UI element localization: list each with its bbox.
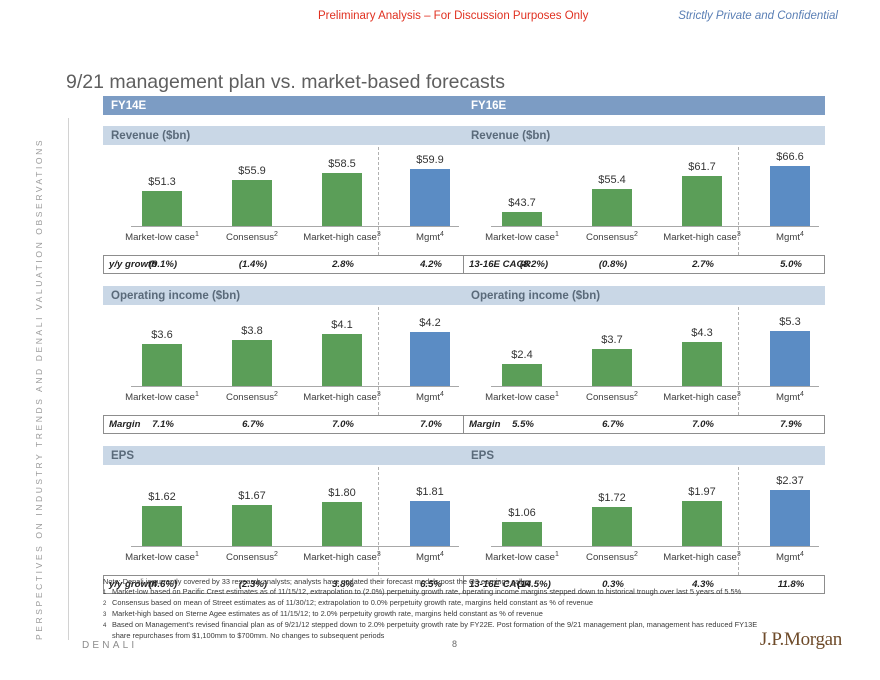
x-label: Market-low case1 xyxy=(474,389,570,404)
bar-group-mgmt: $4.2 xyxy=(385,317,475,386)
plot-area: $2.4 $3.7 $4.3 $5.3 xyxy=(463,309,825,387)
x-label-text: Market-low case xyxy=(485,392,555,403)
stats-cell: (0.8%) xyxy=(565,256,661,273)
footnote-marker: 1 xyxy=(555,391,559,398)
x-label: Consensus2 xyxy=(204,229,300,244)
bar-group: $1.80 xyxy=(297,487,387,546)
stats-row: Margin 5.5% 6.7% 7.0% 7.9% xyxy=(463,415,825,434)
bar-group: $3.7 xyxy=(567,334,657,386)
bar-value: $1.06 xyxy=(477,507,567,519)
bar-value: $2.4 xyxy=(477,349,567,361)
x-label: Market-high case3 xyxy=(294,229,390,244)
bar-group: $58.5 xyxy=(297,158,387,226)
stats-row: Margin 7.1% 6.7% 7.0% 7.0% xyxy=(103,415,465,434)
chart-fy16e-revenue: $43.7 $55.4 $61.7 $66.6 xyxy=(463,149,825,251)
bar-mgmt xyxy=(410,169,450,226)
section-title: Revenue ($bn) xyxy=(463,126,825,145)
x-axis-labels: Market-low case1 Consensus2 Market-high … xyxy=(103,549,465,573)
section-title: EPS xyxy=(463,446,825,465)
x-label: Market-high case3 xyxy=(654,389,750,404)
x-label-text: Mgmt xyxy=(416,392,440,403)
x-label-text: Market-high case xyxy=(303,232,377,243)
section-fy14e-revenue: Revenue ($bn) $51.3 $55.9 $58.5 xyxy=(103,126,465,277)
axis-line xyxy=(491,386,819,387)
column-header-fy14e: FY14E xyxy=(103,96,465,115)
section-fy14e-operating-income: Operating income ($bn) $3.6 $3.8 $4.1 xyxy=(103,286,465,437)
chart-fy16e-operating-income: $2.4 $3.7 $4.3 $5.3 xyxy=(463,309,825,411)
stats-cell: 7.1% xyxy=(115,416,211,433)
bar xyxy=(142,506,182,546)
bar-mgmt xyxy=(410,332,450,386)
axis-line xyxy=(491,546,819,547)
page-number: 8 xyxy=(452,639,457,649)
footnote-marker: 4 xyxy=(800,231,804,238)
chart-fy14e-eps: $1.62 $1.67 $1.80 $1.81 xyxy=(103,469,465,571)
bar-group: $4.1 xyxy=(297,319,387,386)
bar-group: $61.7 xyxy=(657,161,747,226)
footnote-item-1: 1Market-low based on Pacific Crest estim… xyxy=(103,587,833,598)
bar-group-mgmt: $2.37 xyxy=(745,475,835,546)
chart-fy14e-operating-income: $3.6 $3.8 $4.1 $4.2 xyxy=(103,309,465,411)
footnote-marker: 3 xyxy=(737,551,741,558)
bar xyxy=(502,212,542,226)
column-fy14e: FY14E Revenue ($bn) $51.3 $55.9 xyxy=(103,96,465,606)
x-label: Consensus2 xyxy=(564,389,660,404)
footnote-text: Market-low based on Pacific Crest estima… xyxy=(112,587,741,596)
bar xyxy=(502,522,542,546)
x-label: Market-low case1 xyxy=(114,229,210,244)
side-rail-label: PERSPECTIVES ON INDUSTRY TRENDS AND DENA… xyxy=(34,138,44,640)
x-label-text: Market-high case xyxy=(663,232,737,243)
footnote-marker: 1 xyxy=(555,231,559,238)
footnote-marker: 2 xyxy=(103,599,112,609)
footnote-text: Based on Management's revised financial … xyxy=(112,620,757,629)
x-axis-labels: Market-low case1 Consensus2 Market-high … xyxy=(463,389,825,413)
stats-cell: 6.7% xyxy=(205,416,301,433)
plot-area: $43.7 $55.4 $61.7 $66.6 xyxy=(463,149,825,227)
column-header-fy16e: FY16E xyxy=(463,96,825,115)
bar-value: $2.37 xyxy=(745,475,835,487)
x-label-text: Mgmt xyxy=(416,232,440,243)
bar-group: $1.06 xyxy=(477,507,567,546)
bar-value: $1.97 xyxy=(657,486,747,498)
section-fy14e-eps: EPS $1.62 $1.67 $1.80 xyxy=(103,446,465,597)
bar-value: $59.9 xyxy=(385,154,475,166)
bar-group-mgmt: $59.9 xyxy=(385,154,475,226)
column-fy16e: FY16E Revenue ($bn) $43.7 $55.4 xyxy=(463,96,825,606)
bar xyxy=(502,364,542,386)
bar-group: $3.6 xyxy=(117,329,207,386)
bar xyxy=(682,176,722,226)
bar-value: $1.72 xyxy=(567,492,657,504)
section-title: Operating income ($bn) xyxy=(463,286,825,305)
stats-cell: 7.9% xyxy=(743,416,839,433)
bar xyxy=(142,191,182,226)
bar xyxy=(682,501,722,546)
x-label-text: Market-high case xyxy=(303,552,377,563)
axis-line xyxy=(131,226,459,227)
bar xyxy=(322,173,362,226)
x-label: Consensus2 xyxy=(564,229,660,244)
bar xyxy=(232,180,272,226)
chart-fy14e-revenue: $51.3 $55.9 $58.5 $59.9 xyxy=(103,149,465,251)
bar xyxy=(142,344,182,386)
bar-group: $2.4 xyxy=(477,349,567,386)
bar xyxy=(592,507,632,546)
stats-cell: 5.0% xyxy=(743,256,839,273)
bar-group-mgmt: $1.81 xyxy=(385,486,475,546)
bar-group: $4.3 xyxy=(657,327,747,386)
plot-area: $51.3 $55.9 $58.5 $59.9 xyxy=(103,149,465,227)
x-label-text: Market-low case xyxy=(125,392,195,403)
bar xyxy=(232,340,272,386)
bar-mgmt xyxy=(770,166,810,226)
footnote-marker: 3 xyxy=(737,231,741,238)
x-label: Consensus2 xyxy=(204,389,300,404)
side-rail-divider xyxy=(68,118,69,640)
x-label: Market-low case1 xyxy=(114,549,210,564)
x-label-text: Consensus xyxy=(226,552,274,563)
x-label: Market-high case3 xyxy=(654,549,750,564)
stats-cell: (9.1%) xyxy=(115,256,211,273)
x-label-text: Market-low case xyxy=(485,552,555,563)
stats-cell: 7.0% xyxy=(655,416,751,433)
x-label-text: Consensus xyxy=(586,392,634,403)
plot-area: $1.62 $1.67 $1.80 $1.81 xyxy=(103,469,465,547)
footnote-item-2: 2Consensus based on mean of Street estim… xyxy=(103,598,833,609)
page-title: 9/21 management plan vs. market-based fo… xyxy=(66,71,505,94)
bar-group: $1.97 xyxy=(657,486,747,546)
footnote-item-4: 4Based on Management's revised financial… xyxy=(103,620,833,631)
x-label-text: Market-high case xyxy=(663,392,737,403)
bar-group: $1.72 xyxy=(567,492,657,546)
bar-group-mgmt: $5.3 xyxy=(745,316,835,386)
x-label-text: Consensus xyxy=(586,552,634,563)
bar-value: $5.3 xyxy=(745,316,835,328)
footnote-marker: 2 xyxy=(634,551,638,558)
x-label: Market-low case1 xyxy=(474,549,570,564)
x-label-text: Mgmt xyxy=(776,232,800,243)
footnote-marker: 2 xyxy=(634,391,638,398)
footnote-item-4-continuation: share repurchases from $1,100mm to $700m… xyxy=(103,631,833,641)
footnote-marker: 3 xyxy=(377,391,381,398)
x-axis-labels: Market-low case1 Consensus2 Market-high … xyxy=(103,389,465,413)
footnotes-block: Note: Denali is currently covered by 33 … xyxy=(103,577,833,641)
bar-value: $3.6 xyxy=(117,329,207,341)
bar-value: $1.81 xyxy=(385,486,475,498)
footnote-marker: 4 xyxy=(800,391,804,398)
footnote-marker: 2 xyxy=(274,551,278,558)
bar-mgmt xyxy=(770,331,810,386)
bar-group: $1.67 xyxy=(207,490,297,546)
footnote-text: Consensus based on mean of Street estima… xyxy=(112,598,593,607)
bar-value: $1.62 xyxy=(117,491,207,503)
stats-cell: 2.7% xyxy=(655,256,751,273)
stats-cell: 5.5% xyxy=(475,416,571,433)
bar-value: $4.1 xyxy=(297,319,387,331)
bar-value: $4.2 xyxy=(385,317,475,329)
footnote-item-3: 3Market-high based on Sterne Agee estima… xyxy=(103,609,833,620)
bar-value: $3.7 xyxy=(567,334,657,346)
bar xyxy=(682,342,722,386)
bar-group-mgmt: $66.6 xyxy=(745,151,835,226)
x-label: Mgmt4 xyxy=(742,549,838,564)
jpmorgan-logo: J.P.Morgan xyxy=(760,629,842,651)
x-label-text: Market-high case xyxy=(303,392,377,403)
section-title: Operating income ($bn) xyxy=(103,286,465,305)
bar xyxy=(322,502,362,546)
footnote-marker: 3 xyxy=(377,231,381,238)
stats-row: 13-16E CAGR (8.2%) (0.8%) 2.7% 5.0% xyxy=(463,255,825,274)
footnote-marker: 4 xyxy=(800,551,804,558)
x-label: Market-low case1 xyxy=(474,229,570,244)
chart-fy16e-eps: $1.06 $1.72 $1.97 $2.37 xyxy=(463,469,825,571)
footnote-text: Market-high based on Sterne Agee estimat… xyxy=(112,609,543,618)
stats-row: y/y growth (9.1%) (1.4%) 2.8% 4.2% xyxy=(103,255,465,274)
x-label: Market-high case3 xyxy=(654,229,750,244)
confidentiality-notice: Strictly Private and Confidential xyxy=(678,10,838,22)
bar-value: $58.5 xyxy=(297,158,387,170)
bar xyxy=(322,334,362,386)
x-label: Market-low case1 xyxy=(114,389,210,404)
x-label-text: Mgmt xyxy=(776,392,800,403)
footnote-marker: 1 xyxy=(195,231,199,238)
bar-value: $3.8 xyxy=(207,325,297,337)
plot-area: $3.6 $3.8 $4.1 $4.2 xyxy=(103,309,465,387)
x-label-text: Market-low case xyxy=(125,232,195,243)
section-fy16e-operating-income: Operating income ($bn) $2.4 $3.7 $4.3 xyxy=(463,286,825,437)
bar-value: $55.4 xyxy=(567,174,657,186)
side-rail: PERSPECTIVES ON INDUSTRY TRENDS AND DENA… xyxy=(44,180,60,640)
section-title: Revenue ($bn) xyxy=(103,126,465,145)
bar-value: $43.7 xyxy=(477,197,567,209)
x-axis-labels: Market-low case1 Consensus2 Market-high … xyxy=(103,229,465,253)
footnote-marker: 2 xyxy=(634,231,638,238)
bar-group: $51.3 xyxy=(117,176,207,226)
x-label: Mgmt4 xyxy=(742,389,838,404)
top-banner: Preliminary Analysis – For Discussion Pu… xyxy=(0,10,880,30)
x-axis-labels: Market-low case1 Consensus2 Market-high … xyxy=(463,549,825,573)
footnote-marker: 1 xyxy=(195,551,199,558)
bar-value: $61.7 xyxy=(657,161,747,173)
footnote-marker: 1 xyxy=(555,551,559,558)
bar-group: $55.4 xyxy=(567,174,657,226)
bar-value: $51.3 xyxy=(117,176,207,188)
x-label: Consensus2 xyxy=(564,549,660,564)
section-fy16e-eps: EPS $1.06 $1.72 $1.97 xyxy=(463,446,825,597)
preliminary-analysis-notice: Preliminary Analysis – For Discussion Pu… xyxy=(318,10,588,22)
stats-cell: 2.8% xyxy=(295,256,391,273)
x-axis-labels: Market-low case1 Consensus2 Market-high … xyxy=(463,229,825,253)
x-label-text: Mgmt xyxy=(416,552,440,563)
footnote-marker: 4 xyxy=(103,621,112,631)
axis-line xyxy=(491,226,819,227)
bar-mgmt xyxy=(410,501,450,546)
x-label-text: Mgmt xyxy=(776,552,800,563)
bar-value: $66.6 xyxy=(745,151,835,163)
bar-group: $55.9 xyxy=(207,165,297,226)
footnote-note: Note: Denali is currently covered by 33 … xyxy=(103,577,833,587)
x-label-text: Market-low case xyxy=(125,552,195,563)
stats-cell: 6.7% xyxy=(565,416,661,433)
footnote-marker: 2 xyxy=(274,231,278,238)
bar-value: $1.80 xyxy=(297,487,387,499)
axis-line xyxy=(131,386,459,387)
plot-area: $1.06 $1.72 $1.97 $2.37 xyxy=(463,469,825,547)
footnote-marker: 4 xyxy=(440,551,444,558)
bar-group: $1.62 xyxy=(117,491,207,546)
bar xyxy=(592,189,632,226)
stats-cell: (1.4%) xyxy=(205,256,301,273)
x-label: Mgmt4 xyxy=(742,229,838,244)
x-label-text: Market-high case xyxy=(663,552,737,563)
x-label-text: Consensus xyxy=(226,392,274,403)
footnote-marker: 3 xyxy=(377,551,381,558)
axis-line xyxy=(131,546,459,547)
x-label: Consensus2 xyxy=(204,549,300,564)
brand-denali: DENALI xyxy=(82,640,137,651)
stats-cell: 7.0% xyxy=(295,416,391,433)
x-label: Market-high case3 xyxy=(294,389,390,404)
section-fy16e-revenue: Revenue ($bn) $43.7 $55.4 $61.7 xyxy=(463,126,825,277)
bar xyxy=(232,505,272,546)
bar-value: $4.3 xyxy=(657,327,747,339)
footnote-marker: 1 xyxy=(103,588,112,598)
bar-group: $43.7 xyxy=(477,197,567,226)
x-label-text: Consensus xyxy=(586,232,634,243)
footnote-marker: 3 xyxy=(737,391,741,398)
footnote-marker: 3 xyxy=(103,610,112,620)
x-label-text: Consensus xyxy=(226,232,274,243)
x-label-text: Market-low case xyxy=(485,232,555,243)
bar-value: $1.67 xyxy=(207,490,297,502)
bar xyxy=(592,349,632,386)
footnote-marker: 2 xyxy=(274,391,278,398)
bar-value: $55.9 xyxy=(207,165,297,177)
bar-group: $3.8 xyxy=(207,325,297,386)
footnote-marker: 4 xyxy=(440,391,444,398)
footnote-marker: 4 xyxy=(440,231,444,238)
footnote-marker: 1 xyxy=(195,391,199,398)
bar-mgmt xyxy=(770,490,810,546)
x-label: Market-high case3 xyxy=(294,549,390,564)
section-title: EPS xyxy=(103,446,465,465)
